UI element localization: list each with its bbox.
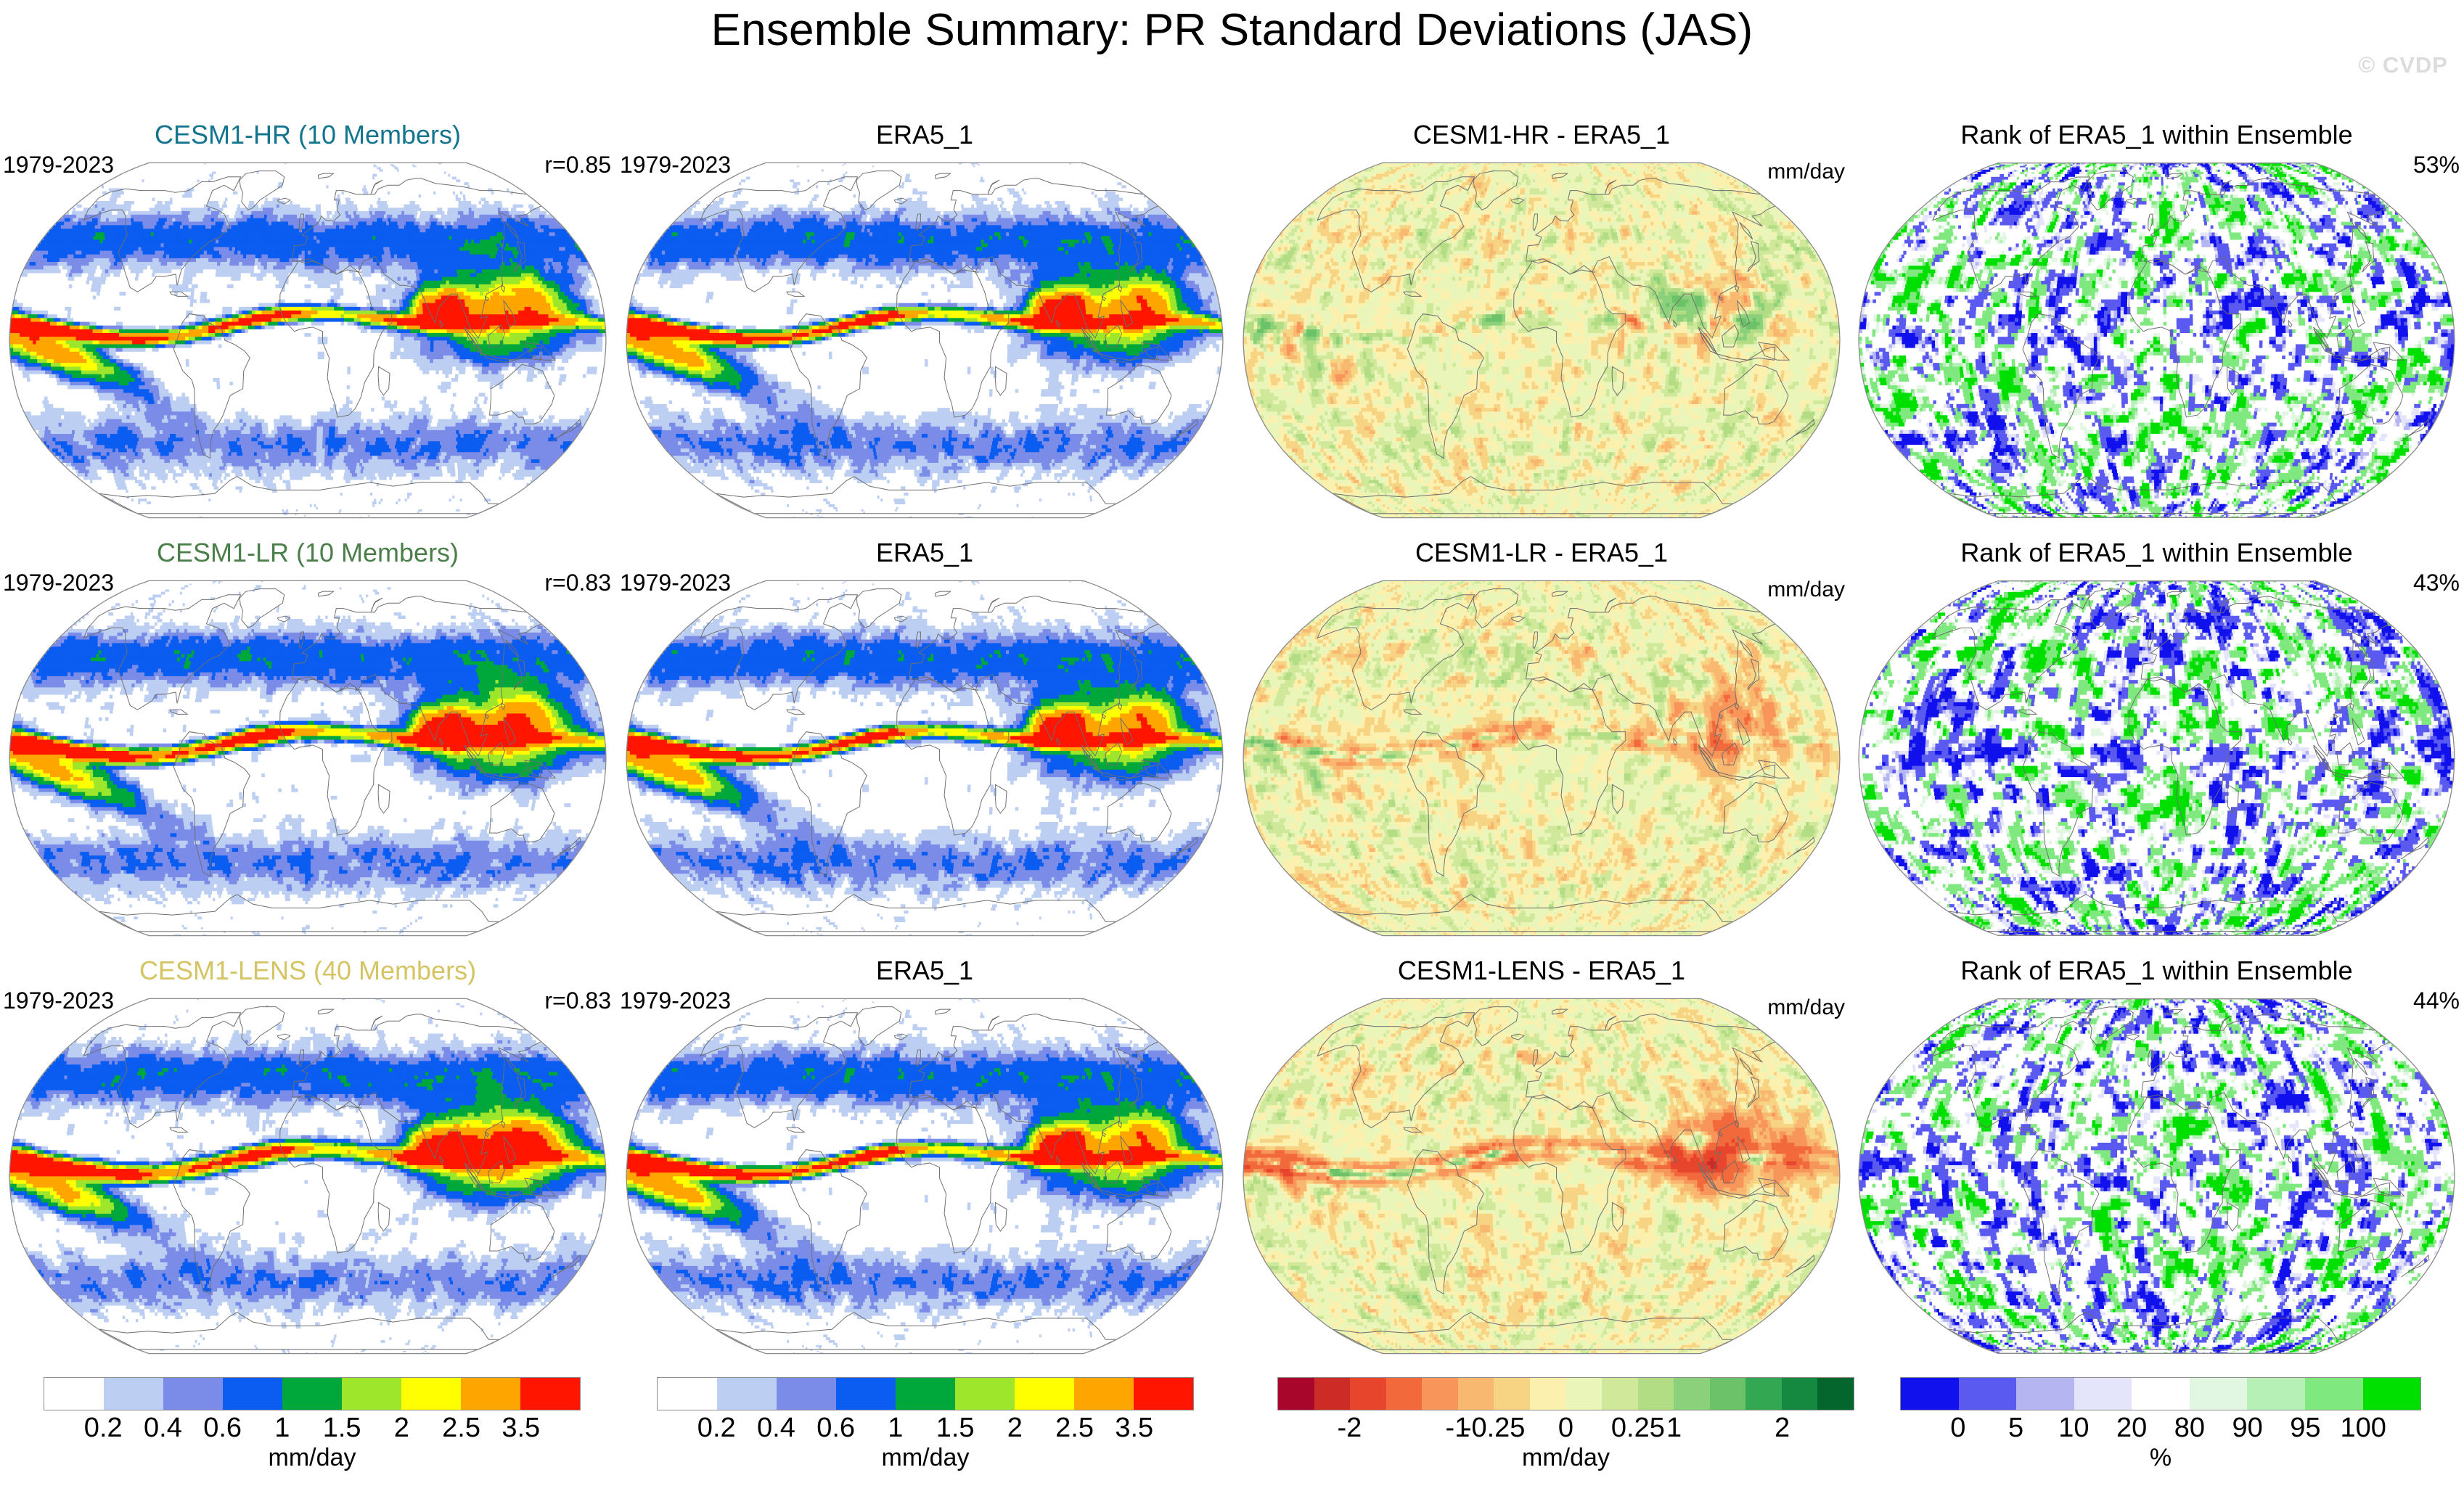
map-canvas	[617, 990, 1232, 1363]
colorbar-unit-label: mm/day	[657, 1444, 1194, 1471]
colorbar-tick-label: 0.6	[203, 1412, 242, 1444]
panel-r2-rank: Rank of ERA5_1 within Ensemble43%	[1849, 538, 2464, 945]
world-map-diff	[1234, 572, 1849, 945]
colorbar-tick-label: 2	[1007, 1412, 1023, 1444]
colorbar-tick-label: 20	[2116, 1412, 2147, 1444]
colorbar-segment	[1278, 1378, 1314, 1410]
colorbar-tick-label: 0.6	[816, 1412, 855, 1444]
panel-r2-diff: CESM1-LR - ERA5_1mm/day	[1234, 538, 1849, 945]
colorbar-tick-label: -2	[1337, 1412, 1362, 1444]
colorbar-tick-label: 3.5	[502, 1412, 540, 1444]
colorbar-tick-label: 0	[1558, 1412, 1573, 1444]
colorbar-segment	[401, 1378, 461, 1410]
colorbar-3: -2-1-0.2500.2512mm/day	[1277, 1377, 1854, 1479]
colorbar-strip	[1900, 1377, 2421, 1410]
colorbar-tick-label: 2.5	[1055, 1412, 1094, 1444]
panel-r2-obs: ERA5_11979-2023	[617, 538, 1232, 945]
colorbar-segment	[1710, 1378, 1746, 1410]
colorbar-tick-label: 0.2	[84, 1412, 123, 1444]
world-map-diff	[1234, 990, 1849, 1363]
colorbar-4: 051020809095100%	[1900, 1377, 2421, 1479]
colorbar-strip	[44, 1377, 581, 1410]
panel-r3-rank: Rank of ERA5_1 within Ensemble44%	[1849, 956, 2464, 1363]
colorbar-segment	[104, 1378, 163, 1410]
panel-r2-model: CESM1-LR (10 Members)1979-2023r=0.83	[0, 538, 615, 945]
colorbar-segment	[1745, 1378, 1782, 1410]
colorbar-segment	[2363, 1378, 2421, 1410]
colorbar-1: 0.20.40.611.522.53.5mm/day	[44, 1377, 581, 1479]
colorbar-segment	[1602, 1378, 1638, 1410]
colorbar-segment	[717, 1378, 777, 1410]
panel-r1-rank: Rank of ERA5_1 within Ensemble53%	[1849, 120, 2464, 527]
map-canvas	[1849, 572, 2464, 945]
colorbar-strip	[1277, 1377, 1854, 1410]
colorbar-segment	[2247, 1378, 2305, 1410]
colorbar-segment	[1530, 1378, 1566, 1410]
colorbar-segment	[163, 1378, 223, 1410]
colorbar-tick-label: 0	[1950, 1412, 1965, 1444]
colorbar-tick-label: 80	[2174, 1412, 2205, 1444]
panel-title: CESM1-LR (10 Members)	[0, 538, 615, 567]
colorbar-unit-label: mm/day	[44, 1444, 581, 1471]
colorbar-segment	[44, 1378, 104, 1410]
colorbar-segment	[223, 1378, 282, 1410]
world-map-diff	[1234, 154, 1849, 527]
colorbar-tick-label: 3.5	[1115, 1412, 1153, 1444]
colorbar-segment	[2132, 1378, 2190, 1410]
panel-r1-obs: ERA5_11979-2023	[617, 120, 1232, 527]
colorbar-strip	[657, 1377, 1194, 1410]
colorbar-segment	[1134, 1378, 1193, 1410]
map-canvas	[0, 154, 615, 527]
colorbar-segment	[2305, 1378, 2363, 1410]
colorbar-tick-label: 2	[1775, 1412, 1790, 1444]
colorbar-segment	[1959, 1378, 2017, 1410]
colorbar-segment	[1782, 1378, 1818, 1410]
colorbar-tick-label: 0.4	[757, 1412, 795, 1444]
colorbar-tick-label: 0.2	[697, 1412, 736, 1444]
panel-r1-diff: CESM1-HR - ERA5_1mm/day	[1234, 120, 1849, 527]
colorbar-segment	[1015, 1378, 1074, 1410]
colorbar-segment	[836, 1378, 896, 1410]
colorbar-tick-label: 1	[888, 1412, 903, 1444]
colorbar-2: 0.20.40.611.522.53.5mm/day	[657, 1377, 1194, 1479]
cvdp-watermark: © CVDP	[2358, 52, 2448, 78]
panel-title: ERA5_1	[617, 120, 1232, 149]
colorbar-segment	[1901, 1378, 1959, 1410]
map-canvas	[1234, 572, 1849, 945]
colorbar-tick-label: 1	[274, 1412, 290, 1444]
world-map-std	[0, 990, 615, 1363]
colorbar-tick-label: 1.5	[936, 1412, 975, 1444]
colorbar-tick-label: 10	[2058, 1412, 2089, 1444]
colorbar-segment	[896, 1378, 955, 1410]
panel-title: Rank of ERA5_1 within Ensemble	[1849, 956, 2464, 985]
colorbar-segment	[1566, 1378, 1603, 1410]
colorbar-segment	[1386, 1378, 1423, 1410]
map-canvas	[1849, 990, 2464, 1363]
colorbar-segment	[461, 1378, 520, 1410]
colorbar-segment	[1350, 1378, 1386, 1410]
colorbar-ticks: -2-1-0.2500.2512	[1277, 1412, 1854, 1445]
colorbar-segment	[1674, 1378, 1710, 1410]
panel-title: CESM1-LENS (40 Members)	[0, 956, 615, 985]
colorbar-ticks: 051020809095100	[1900, 1412, 2421, 1445]
colorbar-tick-label: -0.25	[1462, 1412, 1526, 1444]
world-map-rank	[1849, 990, 2464, 1363]
panel-title: ERA5_1	[617, 956, 1232, 985]
colorbar-tick-label: 90	[2232, 1412, 2263, 1444]
colorbar-tick-label: 2.5	[442, 1412, 480, 1444]
panel-title: ERA5_1	[617, 538, 1232, 567]
colorbar-segment	[777, 1378, 836, 1410]
panel-title: CESM1-LR - ERA5_1	[1234, 538, 1849, 567]
colorbar-segment	[1817, 1378, 1854, 1410]
colorbar-ticks: 0.20.40.611.522.53.5	[657, 1412, 1194, 1445]
world-map-rank	[1849, 154, 2464, 527]
colorbar-tick-label: 95	[2290, 1412, 2320, 1444]
world-map-rank	[1849, 572, 2464, 945]
colorbar-unit-label: %	[1900, 1444, 2421, 1471]
world-map-std	[0, 572, 615, 945]
map-canvas	[0, 990, 615, 1363]
figure-root: Ensemble Summary: PR Standard Deviations…	[0, 0, 2464, 1491]
colorbar-unit-label: mm/day	[1277, 1444, 1854, 1471]
colorbar-segment	[2016, 1378, 2074, 1410]
colorbar-segment	[658, 1378, 717, 1410]
colorbar-segment	[2074, 1378, 2132, 1410]
panel-r3-diff: CESM1-LENS - ERA5_1mm/day	[1234, 956, 1849, 1363]
colorbar-segment	[1314, 1378, 1351, 1410]
world-map-obs	[617, 990, 1232, 1363]
panel-title: Rank of ERA5_1 within Ensemble	[1849, 538, 2464, 567]
colorbar-segment	[1422, 1378, 1458, 1410]
colorbar-tick-label: 0.4	[144, 1412, 182, 1444]
page-title: Ensemble Summary: PR Standard Deviations…	[0, 4, 2464, 56]
panel-r1-model: CESM1-HR (10 Members)1979-2023r=0.85	[0, 120, 615, 527]
world-map-obs	[617, 572, 1232, 945]
map-canvas	[1234, 154, 1849, 527]
map-canvas	[0, 572, 615, 945]
colorbar-tick-label: 100	[2341, 1412, 2386, 1444]
colorbar-segment	[342, 1378, 401, 1410]
map-canvas	[1234, 990, 1849, 1363]
colorbar-ticks: 0.20.40.611.522.53.5	[44, 1412, 581, 1445]
world-map-obs	[617, 154, 1232, 527]
colorbar-tick-label: 5	[2008, 1412, 2023, 1444]
panel-title: CESM1-HR (10 Members)	[0, 120, 615, 149]
map-canvas	[617, 154, 1232, 527]
colorbar-segment	[1638, 1378, 1674, 1410]
panel-title: CESM1-LENS - ERA5_1	[1234, 956, 1849, 985]
colorbar-segment	[1494, 1378, 1530, 1410]
colorbar-tick-label: 0.25	[1611, 1412, 1665, 1444]
colorbar-segment	[520, 1378, 580, 1410]
panel-title: Rank of ERA5_1 within Ensemble	[1849, 120, 2464, 149]
colorbar-segment	[1458, 1378, 1494, 1410]
colorbar-tick-label: 1	[1666, 1412, 1682, 1444]
colorbar-segment	[1074, 1378, 1134, 1410]
colorbar-segment	[955, 1378, 1015, 1410]
panel-r3-model: CESM1-LENS (40 Members)1979-2023r=0.83	[0, 956, 615, 1363]
map-canvas	[617, 572, 1232, 945]
colorbar-tick-label: 2	[394, 1412, 409, 1444]
panel-title: CESM1-HR - ERA5_1	[1234, 120, 1849, 149]
colorbar-segment	[2190, 1378, 2248, 1410]
colorbar-segment	[282, 1378, 342, 1410]
world-map-std	[0, 154, 615, 527]
colorbar-tick-label: 1.5	[323, 1412, 361, 1444]
map-canvas	[1849, 154, 2464, 527]
panel-r3-obs: ERA5_11979-2023	[617, 956, 1232, 1363]
